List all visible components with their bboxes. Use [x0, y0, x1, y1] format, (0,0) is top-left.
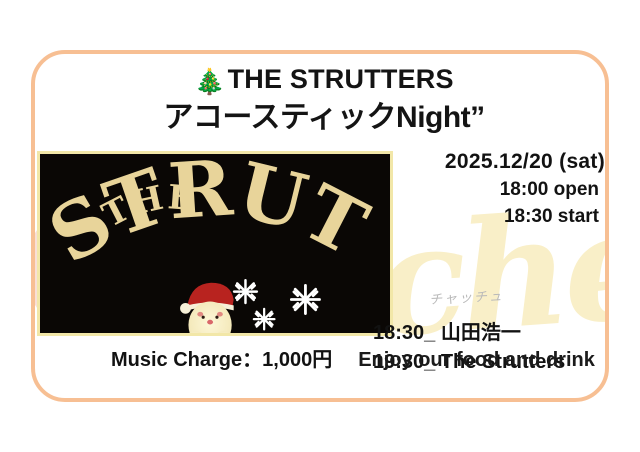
- open-time: 18:00 open: [365, 179, 605, 201]
- logo-word-strutters: STRUTTERS: [40, 154, 381, 282]
- footer-block: Music Charge：1,000円 Enjoy our food and d…: [35, 343, 609, 372]
- event-date: 2025.12/20 (sat): [365, 150, 605, 174]
- band-logo-panel: THE STRUTTERS: [37, 151, 393, 336]
- watermark-kana-text: チャッチュ: [429, 285, 505, 308]
- schedule-block: 2025.12/20 (sat) 18:00 open 18:30 start: [365, 150, 605, 228]
- event-title-line: 🎄THE STRUTTERS: [35, 64, 609, 95]
- music-charge-text: Music Charge：1,000円: [111, 343, 332, 372]
- page-title: THE STRUTTERS: [228, 64, 454, 94]
- snowflake-icon: [234, 280, 319, 329]
- start-time: 18:30 start: [365, 206, 605, 228]
- band-logo-artwork: THE STRUTTERS: [40, 154, 390, 336]
- food-and-drink-text: Enjoy our food and drink: [358, 349, 595, 372]
- santa-face-icon: [180, 283, 234, 336]
- headline-block: 🎄THE STRUTTERS アコースティックNight”: [35, 64, 609, 136]
- flyer-frame: che チャッチュ 🎄THE STRUTTERS アコースティックNight” …: [31, 50, 609, 402]
- event-subtitle: アコースティックNight”: [35, 101, 609, 136]
- christmas-tree-icon: 🎄: [194, 68, 225, 96]
